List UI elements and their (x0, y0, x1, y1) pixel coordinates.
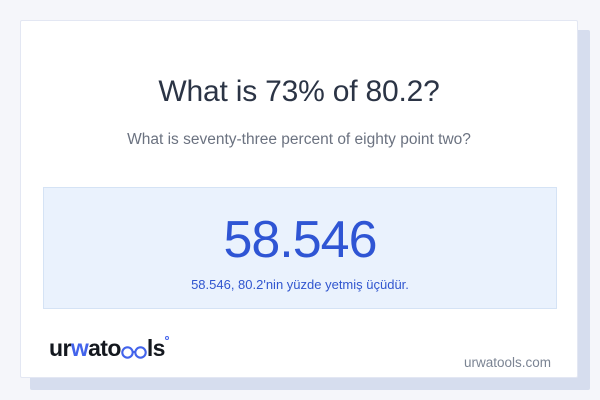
result-card: What is 73% of 80.2? What is seventy-thr… (20, 20, 578, 378)
page-subtitle: What is seventy-three percent of eighty … (21, 131, 577, 149)
urwatools-logo[interactable]: ur w ato ls (49, 337, 165, 360)
page-title: What is 73% of 80.2? (21, 75, 577, 109)
result-value: 58.546 (44, 214, 556, 266)
result-box: 58.546 58.546, 80.2'nin yüzde yetmiş üçü… (43, 187, 557, 309)
logo-glasses-icon (121, 344, 147, 359)
logo-text-w: w (71, 337, 88, 360)
logo-text-ato: ato (88, 337, 121, 360)
page-root: What is 73% of 80.2? What is seventy-thr… (0, 0, 600, 400)
footer-site-url: urwatools.com (464, 355, 551, 370)
result-caption: 58.546, 80.2'nin yüzde yetmiş üçüdür. (44, 277, 556, 292)
logo-dot-icon (165, 336, 169, 340)
logo-text-ls: ls (147, 337, 165, 360)
logo-text-ur: ur (49, 337, 71, 360)
